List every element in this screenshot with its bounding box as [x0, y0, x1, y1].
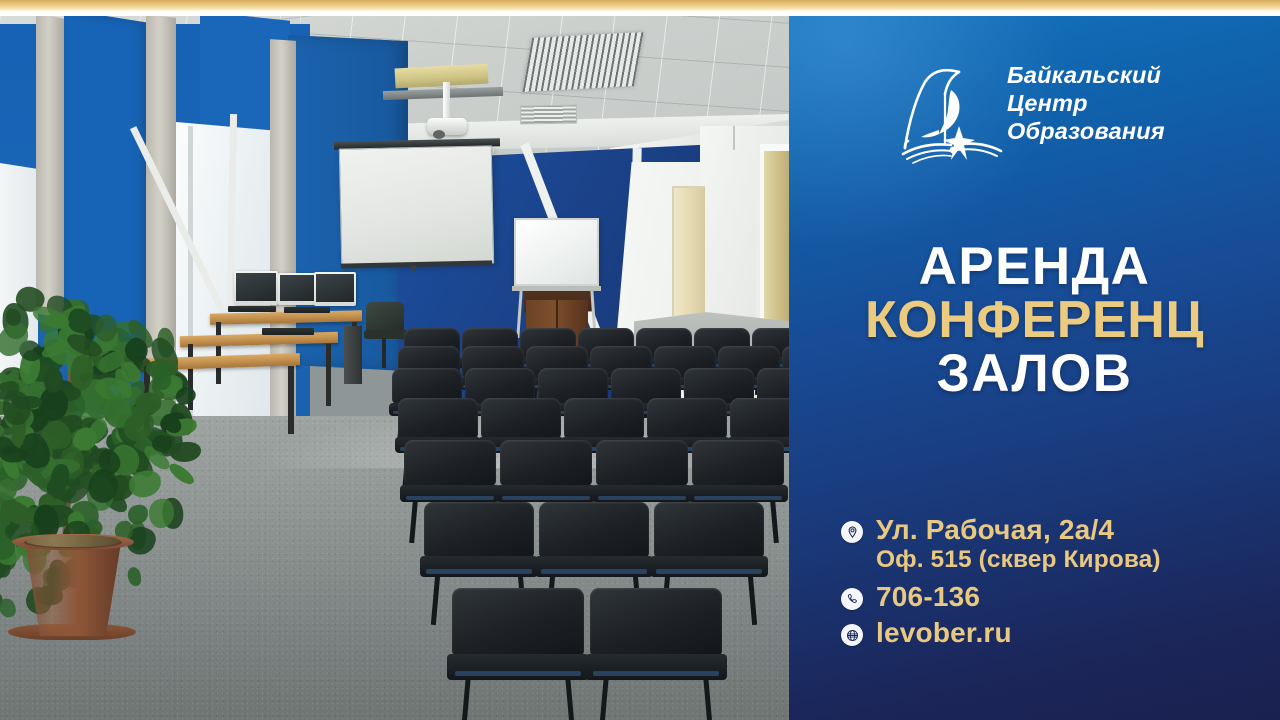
chair-back [452, 588, 584, 656]
desk-leg [326, 344, 331, 406]
chair-seat-trim [694, 496, 782, 500]
computer-tower [344, 326, 362, 384]
chair-seat-trim [502, 496, 590, 500]
projection-screen [339, 145, 494, 266]
auditorium-chair [590, 588, 722, 706]
phone-number[interactable]: 706-136 [876, 581, 980, 613]
contact-website-row[interactable]: levober.ru [789, 617, 1280, 649]
desk-leg [288, 366, 294, 434]
auditorium-chair [654, 502, 764, 598]
whiteboard [514, 218, 599, 286]
promo-banner: Байкальский Центр Образования АРЕНДА КОН… [0, 0, 1280, 720]
window-right-glass [764, 151, 789, 347]
auditorium-chair [452, 588, 584, 706]
brand-logo: Байкальский Центр Образования [897, 54, 1265, 176]
brand-logo-text: Байкальский Центр Образования [1007, 62, 1265, 146]
headline-line-2: КОНФЕРЕНЦ [789, 294, 1280, 347]
plant-leaf [166, 460, 196, 488]
chair-seat-trim [598, 496, 686, 500]
chair-back [647, 398, 727, 439]
projection-screen-pull-tab [411, 266, 416, 272]
top-gold-rule [0, 0, 1280, 11]
monitor-screen [316, 274, 354, 302]
chair-seat-trim [541, 569, 647, 574]
chair-back [404, 440, 496, 486]
projector-lens [433, 130, 445, 139]
headline-line-3: ЗАЛОВ [789, 347, 1280, 401]
chair-back [692, 440, 784, 486]
chair-back [654, 502, 764, 558]
ceiling-light-grille [523, 32, 644, 92]
plant-leaf [127, 504, 149, 525]
conference-room-photo [0, 16, 789, 720]
plant-pot-soil [26, 535, 120, 547]
info-panel: Байкальский Центр Образования АРЕНДА КОН… [789, 16, 1280, 720]
chair-seat-trim [406, 496, 494, 500]
logo-line-2: Центр [1007, 90, 1265, 118]
chair-back [730, 398, 789, 439]
chair-back [564, 398, 644, 439]
chair-back [539, 502, 649, 558]
whiteboard-marker-tray [512, 286, 601, 291]
chair-back [398, 398, 478, 439]
logo-line-1: Байкальский [1007, 62, 1265, 90]
projector-mount-pole [443, 82, 450, 121]
chair-back [500, 440, 592, 486]
plant-foliage [0, 166, 260, 566]
website-url[interactable]: levober.ru [876, 617, 1012, 649]
logo-line-3: Образования [1007, 118, 1265, 146]
contact-phone-row[interactable]: 706-136 [789, 581, 1280, 613]
chair-seat-trim [426, 569, 532, 574]
chair-back [424, 502, 534, 558]
top-white-rule [0, 11, 1280, 16]
keyboard [284, 307, 330, 313]
location-pin-icon [841, 521, 863, 543]
headline: АРЕНДА КОНФЕРЕНЦ ЗАЛОВ [789, 240, 1280, 401]
phone-icon [841, 588, 863, 610]
door [672, 186, 705, 316]
auditorium-chair [539, 502, 649, 598]
keyboard [262, 328, 314, 335]
headline-line-1: АРЕНДА [789, 240, 1280, 294]
chair-seat [585, 654, 728, 680]
monitor-screen [280, 275, 314, 301]
open-book-with-bird-and-star-logo [897, 60, 1009, 168]
chair-seat-trim [593, 671, 720, 677]
air-vent-grille [520, 105, 577, 125]
contact-address-row: Ул. Рабочая, 2а/4 [789, 514, 1280, 546]
chair-seat [447, 654, 590, 680]
wall-pipe [733, 126, 735, 150]
chair-back [481, 398, 561, 439]
globe-icon [841, 624, 863, 646]
contact-block: Ул. Рабочая, 2а/4 Оф. 515 (сквер Кирова)… [789, 514, 1280, 650]
chair-back [590, 588, 722, 656]
address-line-2: Оф. 515 (сквер Кирова) [789, 545, 1280, 574]
chair-seat-trim [455, 671, 582, 677]
plant-leaf [170, 442, 200, 463]
chair-seat-trim [656, 569, 762, 574]
office-chair-seat [364, 330, 408, 339]
office-chair [366, 302, 404, 332]
chair-back [596, 440, 688, 486]
address-line-1: Ул. Рабочая, 2а/4 [876, 514, 1114, 546]
auditorium-chair [424, 502, 534, 598]
office-chair-base [382, 338, 386, 368]
